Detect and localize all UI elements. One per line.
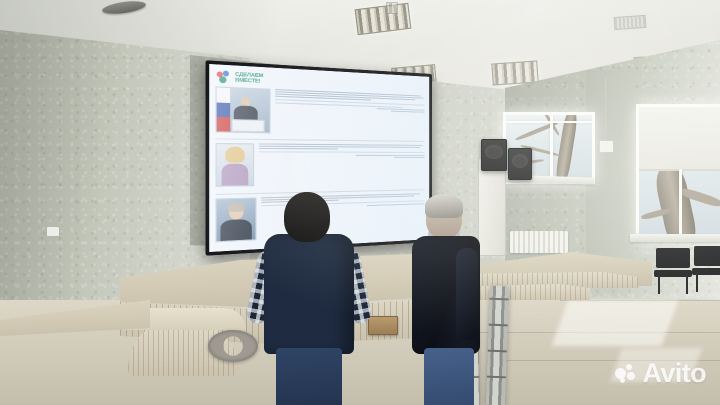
- avito-watermark: Avito: [615, 360, 707, 387]
- avito-wordmark: Avito: [643, 360, 707, 387]
- sunlight-patch: [552, 300, 679, 346]
- person-plaid-shirt: [258, 192, 362, 405]
- black-chair[interactable]: [694, 246, 720, 292]
- portrait-speaker-at-podium: [215, 86, 270, 133]
- loudspeaker-on-sill: [508, 148, 532, 180]
- window-with-roller-blind: [636, 104, 720, 242]
- ladder-rung: [488, 350, 507, 353]
- portrait-hair: [225, 146, 244, 162]
- trousers: [424, 348, 474, 405]
- portrait-woman: [215, 143, 254, 187]
- chair-back: [694, 246, 720, 266]
- portrait-hair: [228, 203, 245, 213]
- window-sill: [630, 234, 720, 242]
- avito-dots-logo-icon: [615, 364, 637, 384]
- quote-block: [259, 143, 425, 158]
- window-mullion: [679, 169, 682, 239]
- sv-leaf-mark-icon: [217, 70, 232, 83]
- divider: [259, 151, 425, 153]
- portrait-body: [220, 219, 251, 241]
- chair-back: [656, 248, 690, 268]
- attribution-line: [356, 154, 424, 155]
- portrait-body: [222, 163, 249, 185]
- window-mullion: [506, 121, 592, 123]
- radiator: [510, 231, 568, 253]
- head: [284, 192, 330, 242]
- chair-leg: [696, 272, 698, 292]
- attribution-line: [391, 111, 424, 113]
- wooden-block: [368, 316, 398, 335]
- ladder-rung: [489, 324, 508, 327]
- divider: [215, 138, 424, 142]
- slide-row: [215, 86, 424, 137]
- ladder-rung: [490, 298, 509, 301]
- coiled-cable: [208, 330, 258, 362]
- roller-blind[interactable]: [639, 107, 720, 171]
- sv-logo-line2: ВМЕСТЕ!: [235, 77, 263, 84]
- attribution-line: [394, 157, 424, 158]
- portrait-man-suit: [215, 198, 256, 243]
- slide-row: [215, 143, 424, 191]
- window-mullion: [550, 115, 553, 181]
- text-line: [259, 148, 338, 150]
- chair-leg: [658, 274, 660, 294]
- power-outlet: [46, 226, 60, 237]
- sv-logo-text: СДЕЛАЕМ ВМЕСТЕ!: [235, 72, 263, 84]
- black-chair[interactable]: [656, 248, 690, 294]
- wall-mounted-loudspeaker: [481, 139, 507, 171]
- sensor-wire: [605, 78, 606, 140]
- trousers: [276, 348, 342, 405]
- russian-flag: [217, 88, 231, 132]
- ladder-rung: [487, 376, 506, 379]
- chair-leg: [686, 274, 688, 294]
- room-photo-scene: СДЕЛАЕМ ВМЕСТЕ!: [0, 0, 720, 405]
- torso-plaid-shirt: [264, 234, 354, 354]
- hair: [425, 194, 463, 218]
- wall-sensor: [599, 140, 614, 153]
- person-dark-jacket: [412, 196, 484, 405]
- podium: [231, 119, 264, 132]
- arm: [456, 248, 478, 340]
